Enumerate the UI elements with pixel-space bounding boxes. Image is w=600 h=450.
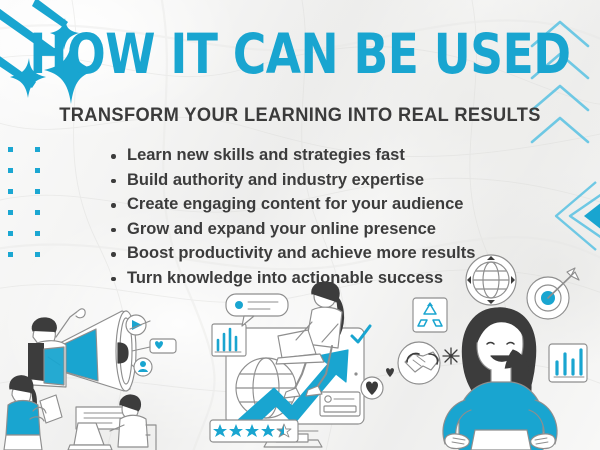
list-item: Build authority and industry expertise xyxy=(110,169,530,193)
chevron-left-decoration xyxy=(540,176,600,256)
grid-dot xyxy=(8,168,13,173)
poster-canvas: HOW IT CAN BE USED TRANSFORM YOUR LEARNI… xyxy=(0,0,600,450)
grid-dot xyxy=(8,252,13,257)
page-subtitle: TRANSFORM YOUR LEARNING INTO REAL RESULT… xyxy=(12,105,588,127)
list-item: Create engaging content for your audienc… xyxy=(110,193,530,217)
list-item: Learn new skills and strategies fast xyxy=(110,144,530,168)
megaphone-marketing-illustration xyxy=(0,285,205,450)
page-title: HOW IT CAN BE USED xyxy=(24,26,576,82)
grid-dot xyxy=(35,147,40,152)
confident-woman-illustration xyxy=(385,250,600,450)
grid-dot xyxy=(8,231,13,236)
grid-dot xyxy=(35,168,40,173)
grid-dot xyxy=(8,210,13,215)
grid-dot xyxy=(8,147,13,152)
grid-dot xyxy=(35,252,40,257)
dot-grid-decoration xyxy=(8,147,48,273)
growth-monitor-illustration xyxy=(196,282,411,450)
grid-dot xyxy=(35,231,40,236)
grid-dot xyxy=(8,189,13,194)
list-item: Grow and expand your online presence xyxy=(110,218,530,242)
grid-dot xyxy=(35,189,40,194)
grid-dot xyxy=(35,210,40,215)
